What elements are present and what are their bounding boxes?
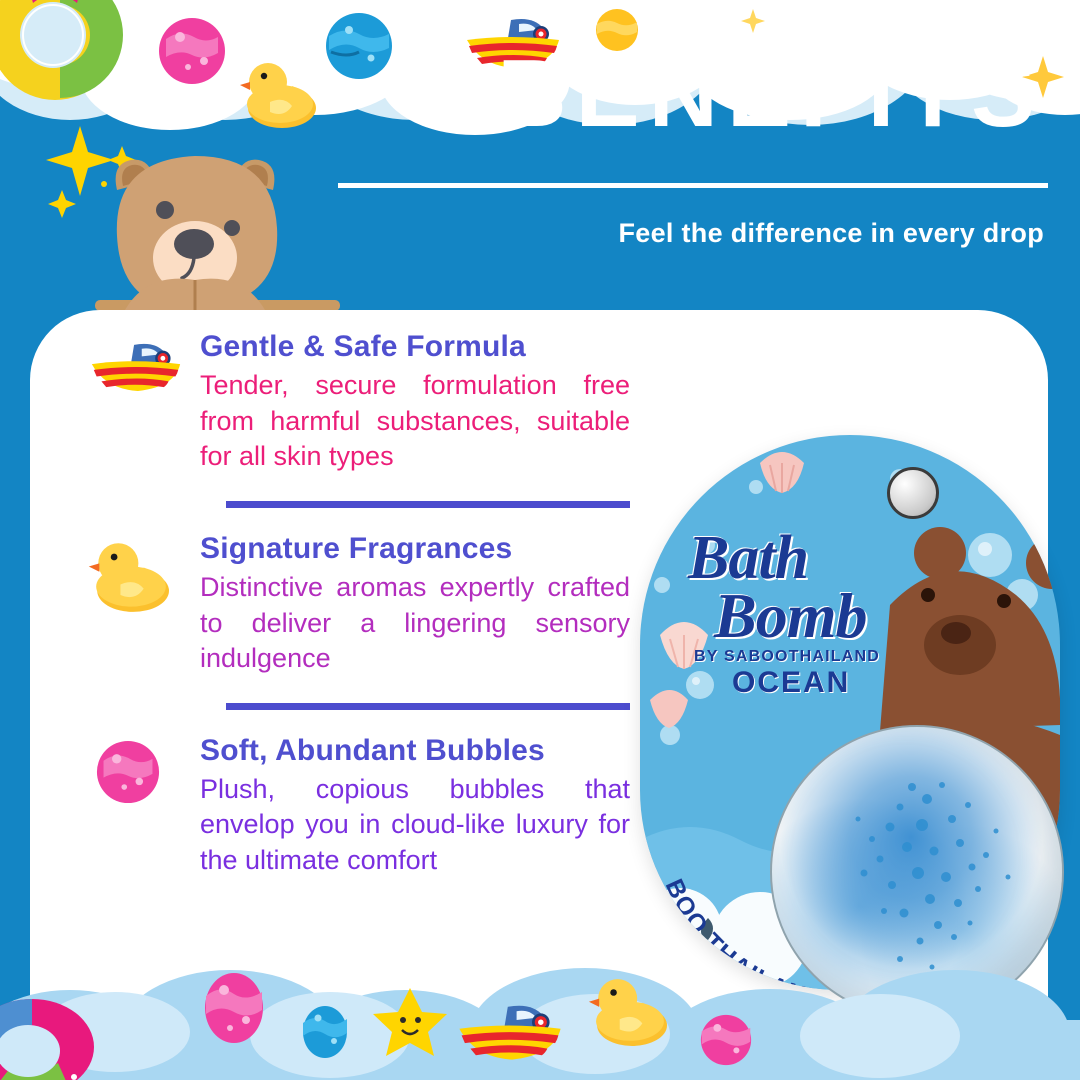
sparkle-icon [740, 8, 766, 34]
poster-canvas: BENEFITS Feel the difference in every dr… [0, 0, 1080, 1080]
pink-bath-bomb-icon [204, 972, 264, 1044]
shell-icon [760, 452, 804, 493]
product-tag[interactable]: Bath Bomb BY SABOOTHAILAND OCEAN [640, 435, 1080, 1015]
benefit-body: Tender, secure formulation free from har… [200, 368, 630, 475]
blue-bath-bomb-icon [302, 1005, 348, 1059]
benefit-item-3: Soft, Abundant Bubbles Plush, copious bu… [30, 734, 670, 879]
toy-boat-icon [88, 336, 184, 416]
rubber-duck-icon [88, 538, 184, 618]
page-subtitle: Feel the difference in every drop [618, 218, 1044, 249]
benefit-item-2: Signature Fragrances Distinctive aromas … [30, 532, 670, 677]
benefit-divider [226, 703, 630, 710]
pink-bath-bomb-icon [700, 1014, 752, 1066]
benefits-list: Gentle & Safe Formula Tender, secure for… [30, 330, 670, 879]
header-divider [338, 183, 1048, 188]
hang-hole [887, 467, 939, 519]
benefit-body: Distinctive aromas expertly crafted to d… [200, 570, 630, 677]
benefit-heading: Gentle & Safe Formula [200, 330, 670, 364]
star-icon [372, 986, 448, 1058]
benefit-body: Plush, copious bubbles that envelop you … [200, 772, 630, 879]
blue-bath-bomb-icon [325, 12, 393, 80]
swim-ring-icon [0, 985, 120, 1080]
swim-ring-icon [0, 0, 145, 100]
rubber-duck-icon [588, 974, 672, 1048]
benefit-divider [226, 501, 630, 508]
rubber-duck-icon [240, 58, 320, 130]
bath-bomb-icon [96, 740, 192, 820]
benefit-heading: Soft, Abundant Bubbles [200, 734, 670, 768]
brand-line-1: Bath [688, 530, 918, 587]
brand-lockup: Bath Bomb BY SABOOTHAILAND OCEAN [688, 530, 918, 700]
pink-bath-bomb-icon [158, 17, 226, 85]
toy-boat-icon [455, 1000, 565, 1062]
benefit-heading: Signature Fragrances [200, 532, 670, 566]
brand-variant: OCEAN [732, 666, 918, 700]
brand-line-2: Bomb [714, 587, 918, 646]
brand-byline: BY SABOOTHAILAND [694, 648, 918, 666]
shell-icon [650, 690, 688, 728]
benefit-item-1: Gentle & Safe Formula Tender, secure for… [30, 330, 670, 475]
bear-mascot-icon [95, 150, 340, 335]
page-title: BENEFITS [497, 46, 1044, 142]
